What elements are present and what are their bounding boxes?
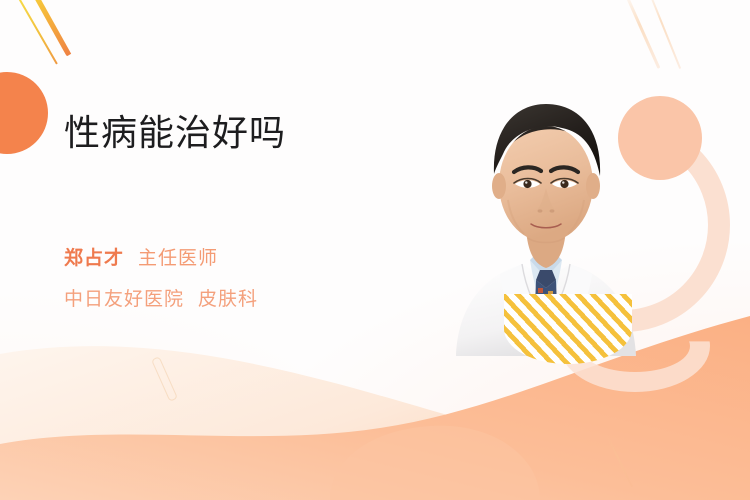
doctor-rank: 主任医师 <box>138 247 218 269</box>
headline-block: 性病能治好吗 <box>64 112 424 155</box>
doctor-qa-banner: 性病能治好吗 郑占才主任医师 中日友好医院皮肤科 <box>0 0 750 500</box>
page-title: 性病能治好吗 <box>64 112 424 155</box>
yellow-striped-semicircle-icon <box>504 294 632 364</box>
doctor-name: 郑占才 <box>64 247 124 269</box>
doctor-department: 皮肤科 <box>198 288 258 310</box>
doctor-hospital: 中日友好医院 <box>64 288 184 310</box>
doctor-affiliation: 中日友好医院皮肤科 <box>64 284 258 311</box>
doctor-byline: 郑占才主任医师 <box>64 244 218 273</box>
